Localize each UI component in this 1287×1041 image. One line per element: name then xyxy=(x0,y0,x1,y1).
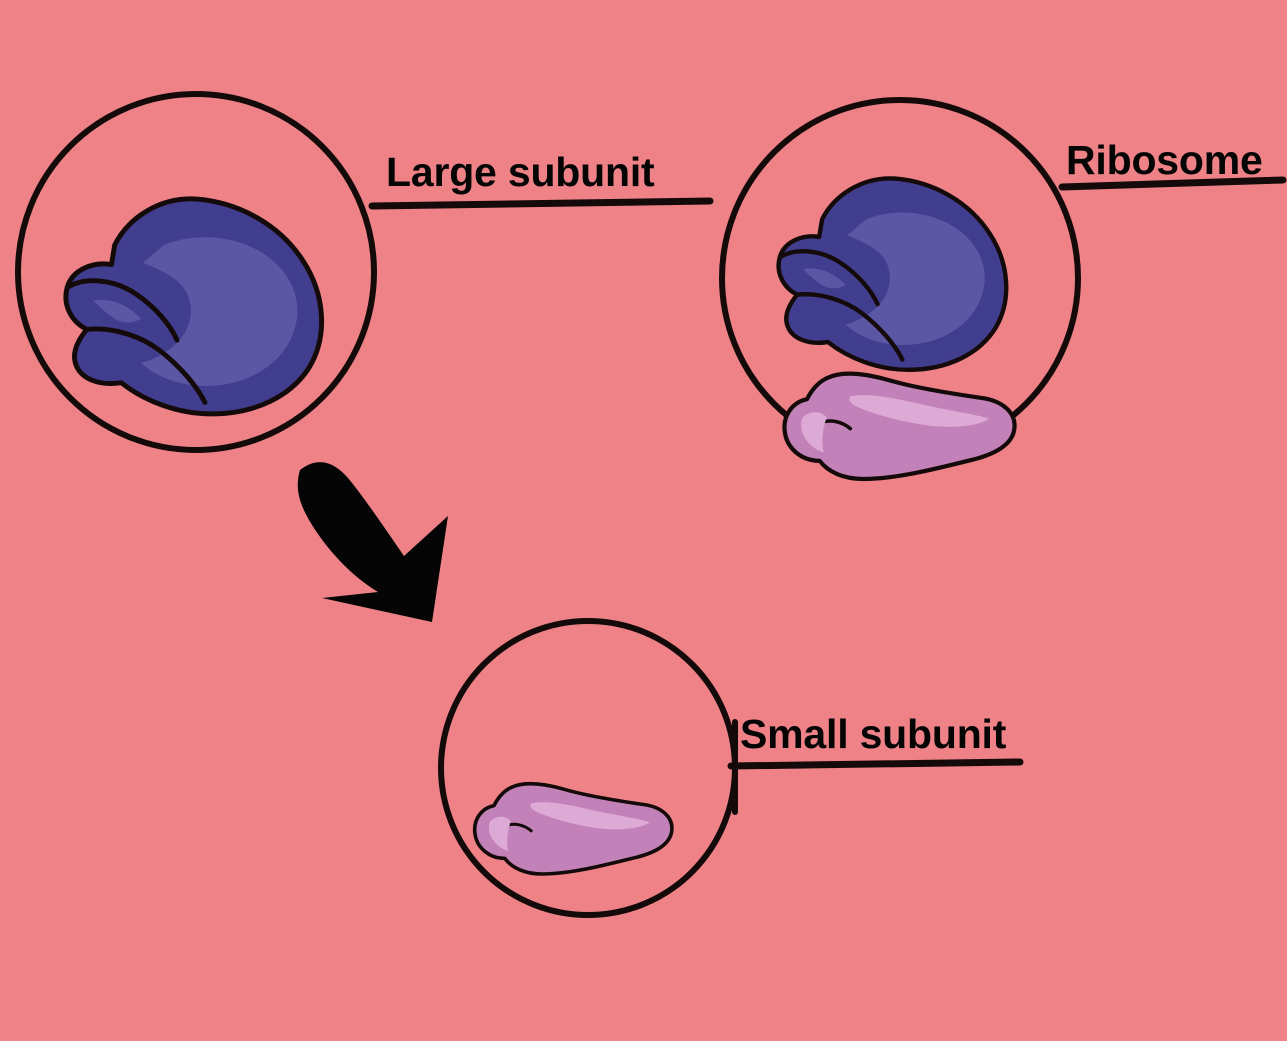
large-subunit-shape xyxy=(66,199,322,414)
ribosome-large-subunit-shape xyxy=(779,178,1007,369)
ribosome-small-subunit-shape xyxy=(784,374,1014,479)
label-small-subunit: Small subunit xyxy=(740,714,1006,755)
small-subunit-leader-line xyxy=(731,762,1020,766)
dissociation-arrow xyxy=(298,462,448,622)
label-ribosome: Ribosome xyxy=(1066,140,1263,181)
panel-large-subunit xyxy=(18,94,710,450)
diagram-canvas: Large subunit Ribosome Small subunit xyxy=(0,0,1287,1041)
small-subunit-circle xyxy=(441,621,735,915)
label-large-subunit: Large subunit xyxy=(386,152,654,193)
small-subunit-shape xyxy=(475,784,672,874)
panel-small-subunit xyxy=(441,621,1020,915)
large-subunit-leader-line xyxy=(372,201,710,206)
